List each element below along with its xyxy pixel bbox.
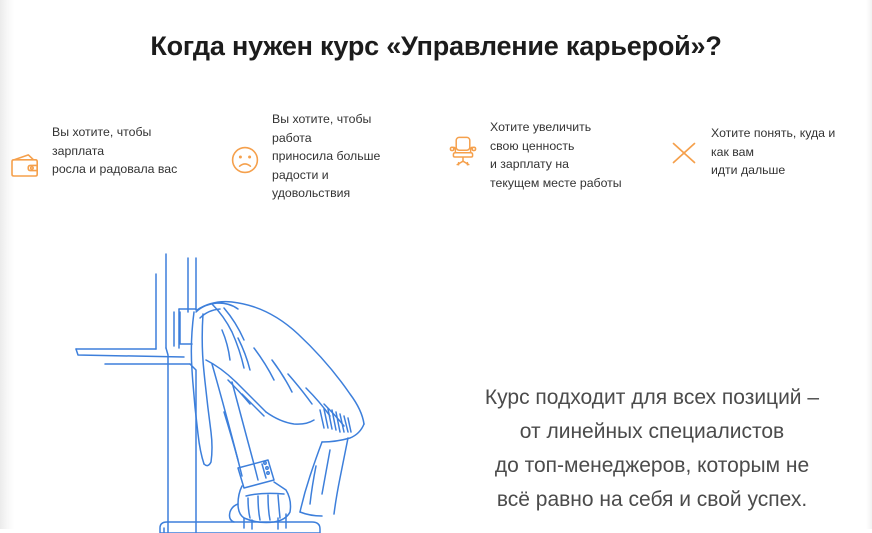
page-title: Когда нужен курс «Управление карьерой»? [0,31,872,62]
benefit-label: Вы хотите, чтобы зарплата росла и радова… [52,123,177,179]
benefit-item-career-direction: Хотите понять, куда и как вам идти дальш… [667,124,867,180]
sad-face-icon [228,143,262,177]
page-root: Когда нужен курс «Управление карьерой»? … [0,0,872,529]
benefit-item-increase-value: Хотите увеличить свою ценность и зарплат… [446,118,661,192]
closing-statement: Курс подходит для всех позиций – от лине… [432,381,872,517]
tired-person-leaning-with-briefcase-illustration [72,252,392,533]
crossroads-x-icon [667,136,701,170]
office-chair-icon [446,134,480,168]
benefit-item-job-satisfaction: Вы хотите, чтобы работа приносила больше… [228,110,413,203]
benefit-label: Вы хотите, чтобы работа приносила больше… [272,110,380,203]
benefit-item-salary-growth: Вы хотите, чтобы зарплата росла и радова… [8,123,220,183]
benefit-label: Хотите увеличить свою ценность и зарплат… [490,118,622,192]
benefit-label: Хотите понять, куда и как вам идти дальш… [711,124,835,180]
page-left-edge-shadow [0,0,14,529]
benefits-list: Вы хотите, чтобы зарплата росла и радова… [0,104,872,214]
wallet-icon [8,149,42,183]
